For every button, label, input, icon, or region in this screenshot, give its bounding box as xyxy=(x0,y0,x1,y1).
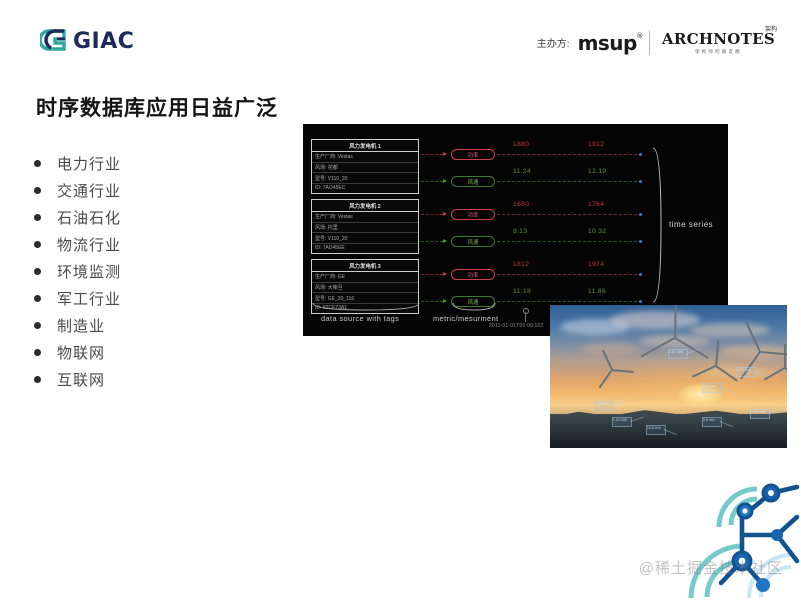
connector-line xyxy=(421,274,443,275)
data-source-title: 风力发电机 2 xyxy=(312,200,418,212)
sponsor-msup-text: msup xyxy=(578,31,637,55)
wind-farm-photo: 1.82 MW11.4 m/s2.05 MW12.1 m/s1.64 MW9.8… xyxy=(550,305,787,448)
bullet-label: 交通行业 xyxy=(57,180,121,201)
bullet-list: 电力行业交通行业石油石化物流行业环境监测军工行业制造业物联网互联网 xyxy=(34,150,234,393)
measurement-value: 11.86 xyxy=(588,288,606,295)
arrow-icon xyxy=(443,299,447,303)
series-endpoint-dot xyxy=(639,153,642,156)
giac-logo-text: GIAC xyxy=(73,29,134,54)
photo-overlay-label: 11.4 m/s xyxy=(703,384,717,388)
sponsor-arch-cn: 架构 xyxy=(765,24,777,33)
timeseries-track xyxy=(497,274,642,275)
measurement-value: 11.24 xyxy=(513,168,531,175)
bullet-dot-icon xyxy=(34,322,41,329)
sponsor-msup-tm: ® xyxy=(636,32,643,40)
data-source-title: 风力发电机 3 xyxy=(312,260,418,272)
giac-g-mark-icon xyxy=(40,28,68,54)
list-item: 互联网 xyxy=(34,366,234,393)
data-source-tag-row: 生产厂商: Vestas xyxy=(312,212,418,223)
giac-logo: GIAC xyxy=(40,28,134,54)
list-item: 物联网 xyxy=(34,339,234,366)
data-source-tag-row: 型号: V110_20 xyxy=(312,233,418,244)
photo-overlay-label: 1.64 MW xyxy=(613,418,627,422)
photo-overlay-label: 10.6 m/s xyxy=(647,426,661,430)
list-item: 石油石化 xyxy=(34,204,234,231)
slide-header: GIAC 主办方: msup® 架构 ARCHNOTES 架构师的朋友圈 xyxy=(0,0,801,78)
series-endpoint-dot xyxy=(639,300,642,303)
metric-pill: 功率 xyxy=(451,269,495,280)
photo-turbine-blade xyxy=(785,367,787,381)
watermark-text: @稀土掘金技术社区 xyxy=(639,557,783,578)
timeseries-track xyxy=(497,301,642,302)
data-source-tag-row: 生产厂商: GE xyxy=(312,272,418,283)
data-source-tag-row: 风场: 大柴旦 xyxy=(312,283,418,294)
series-endpoint-dot xyxy=(639,180,642,183)
timeseries-track xyxy=(497,181,642,182)
metric-pill: 功率 xyxy=(451,149,495,160)
bullet-dot-icon xyxy=(34,349,41,356)
measurement-value: 12.19 xyxy=(588,168,607,175)
list-item: 电力行业 xyxy=(34,150,234,177)
page-title: 时序数据库应用日益广泛 xyxy=(36,92,278,122)
bullet-dot-icon xyxy=(34,268,41,275)
list-item: 物流行业 xyxy=(34,231,234,258)
timeseries-track xyxy=(497,154,642,155)
list-item: 环境监测 xyxy=(34,258,234,285)
measurement-value: 11.18 xyxy=(513,288,531,295)
series-endpoint-dot xyxy=(639,213,642,216)
photo-turbine-blade xyxy=(612,369,634,373)
connector-line xyxy=(421,181,443,182)
bullet-dot-icon xyxy=(34,376,41,383)
bullet-label: 环境监测 xyxy=(57,261,121,282)
arrow-icon xyxy=(443,272,447,276)
caption-metric: metric/mesurment xyxy=(433,314,499,323)
bullet-dot-icon xyxy=(34,187,41,194)
arrow-icon xyxy=(443,152,447,156)
sponsor-divider xyxy=(649,31,650,55)
photo-turbine-blade xyxy=(763,367,785,381)
sponsor-label: 主办方: xyxy=(537,35,570,50)
bullet-label: 物联网 xyxy=(57,342,105,363)
sponsor-msup-logo: msup® xyxy=(578,31,637,55)
connector-line xyxy=(421,154,443,155)
list-item: 军工行业 xyxy=(34,285,234,312)
list-item: 交通行业 xyxy=(34,177,234,204)
bullet-label: 物流行业 xyxy=(57,234,121,255)
metric-pill: 风速 xyxy=(451,176,495,187)
data-source-card: 风力发电机 2生产厂商: Vestas风场: 托里型号: V110_20ID: … xyxy=(311,199,419,254)
bullet-label: 互联网 xyxy=(57,369,105,390)
bullet-label: 制造业 xyxy=(57,315,105,336)
bullet-dot-icon xyxy=(34,295,41,302)
bullet-dot-icon xyxy=(34,160,41,167)
sponsor-arch-main: ARCHNOTES xyxy=(662,30,775,48)
photo-overlay-label: 1.82 MW xyxy=(669,350,683,354)
data-source-title: 风力发电机 1 xyxy=(312,140,418,152)
timeseries-track xyxy=(497,241,642,242)
sponsor-group: 主办方: msup® 架构 ARCHNOTES 架构师的朋友圈 xyxy=(537,30,775,55)
data-source-tag-row: 生产厂商: Vestas xyxy=(312,152,418,163)
metric-pill: 风速 xyxy=(451,236,495,247)
data-source-tag-row: ID: 7AO45EC xyxy=(312,184,418,193)
series-endpoint-dot xyxy=(639,240,642,243)
timestamp-label: 2011-01-01T00:00:10Z xyxy=(489,323,544,329)
measurement-value: 1764 xyxy=(588,201,604,208)
photo-wind-turbine xyxy=(592,367,632,419)
measurement-value: 1812 xyxy=(513,261,529,268)
network-decoration-graphic xyxy=(611,465,801,600)
measurement-value: 1680 xyxy=(513,201,529,208)
arrow-icon xyxy=(443,239,447,243)
photo-overlay-label: 12.1 m/s xyxy=(737,368,751,372)
bullet-label: 军工行业 xyxy=(57,288,121,309)
photo-turbine-blade xyxy=(599,369,613,388)
data-source-card: 风力发电机 1生产厂商: Vestas风场: 花都型号: V110_20ID: … xyxy=(311,139,419,194)
time-tick-line xyxy=(525,312,526,322)
caption-data-source: data source with tags xyxy=(321,314,399,323)
photo-overlay-label: 2.05 MW xyxy=(595,402,609,406)
timeseries-brace xyxy=(651,146,665,309)
photo-turbine-blade xyxy=(715,365,737,381)
connector-line xyxy=(421,301,443,302)
bullet-dot-icon xyxy=(34,214,41,221)
time-tick-marker xyxy=(523,308,529,314)
measurement-value: 1974 xyxy=(588,261,604,268)
slide-root: GIAC 主办方: msup® 架构 ARCHNOTES 架构师的朋友圈 时序数… xyxy=(0,0,801,600)
arrow-icon xyxy=(443,212,447,216)
data-source-tag-row: 风场: 托里 xyxy=(312,223,418,234)
data-source-tag-row: ID: 7AD45EE xyxy=(312,244,418,253)
connector-line xyxy=(421,241,443,242)
timeseries-track xyxy=(497,214,642,215)
sponsor-archnotes-logo: 架构 ARCHNOTES 架构师的朋友圈 xyxy=(662,30,775,55)
sponsor-arch-sub: 架构师的朋友圈 xyxy=(695,49,742,55)
bullet-label: 石油石化 xyxy=(57,207,121,228)
measurement-value: 1912 xyxy=(588,141,604,148)
connector-line xyxy=(421,214,443,215)
photo-overlay-label: 9.8 m/s xyxy=(703,418,715,422)
series-endpoint-dot xyxy=(639,273,642,276)
list-item: 制造业 xyxy=(34,312,234,339)
metric-pill: 功率 xyxy=(451,209,495,220)
measurement-value: 8.13 xyxy=(513,228,527,235)
data-source-tag-row: 风场: 花都 xyxy=(312,163,418,174)
photo-turbine-blade xyxy=(784,344,786,368)
caption-timeseries: time series xyxy=(669,220,713,229)
arrow-icon xyxy=(443,179,447,183)
measurement-value: 10.32 xyxy=(588,228,607,235)
data-source-tag-row: 型号: V110_20 xyxy=(312,173,418,184)
photo-overlay-label: 1.91 MW xyxy=(751,410,765,414)
photo-turbine-blade xyxy=(692,365,716,378)
bullet-label: 电力行业 xyxy=(57,153,121,174)
measurement-value: 1880 xyxy=(513,141,529,148)
bullet-dot-icon xyxy=(34,241,41,248)
